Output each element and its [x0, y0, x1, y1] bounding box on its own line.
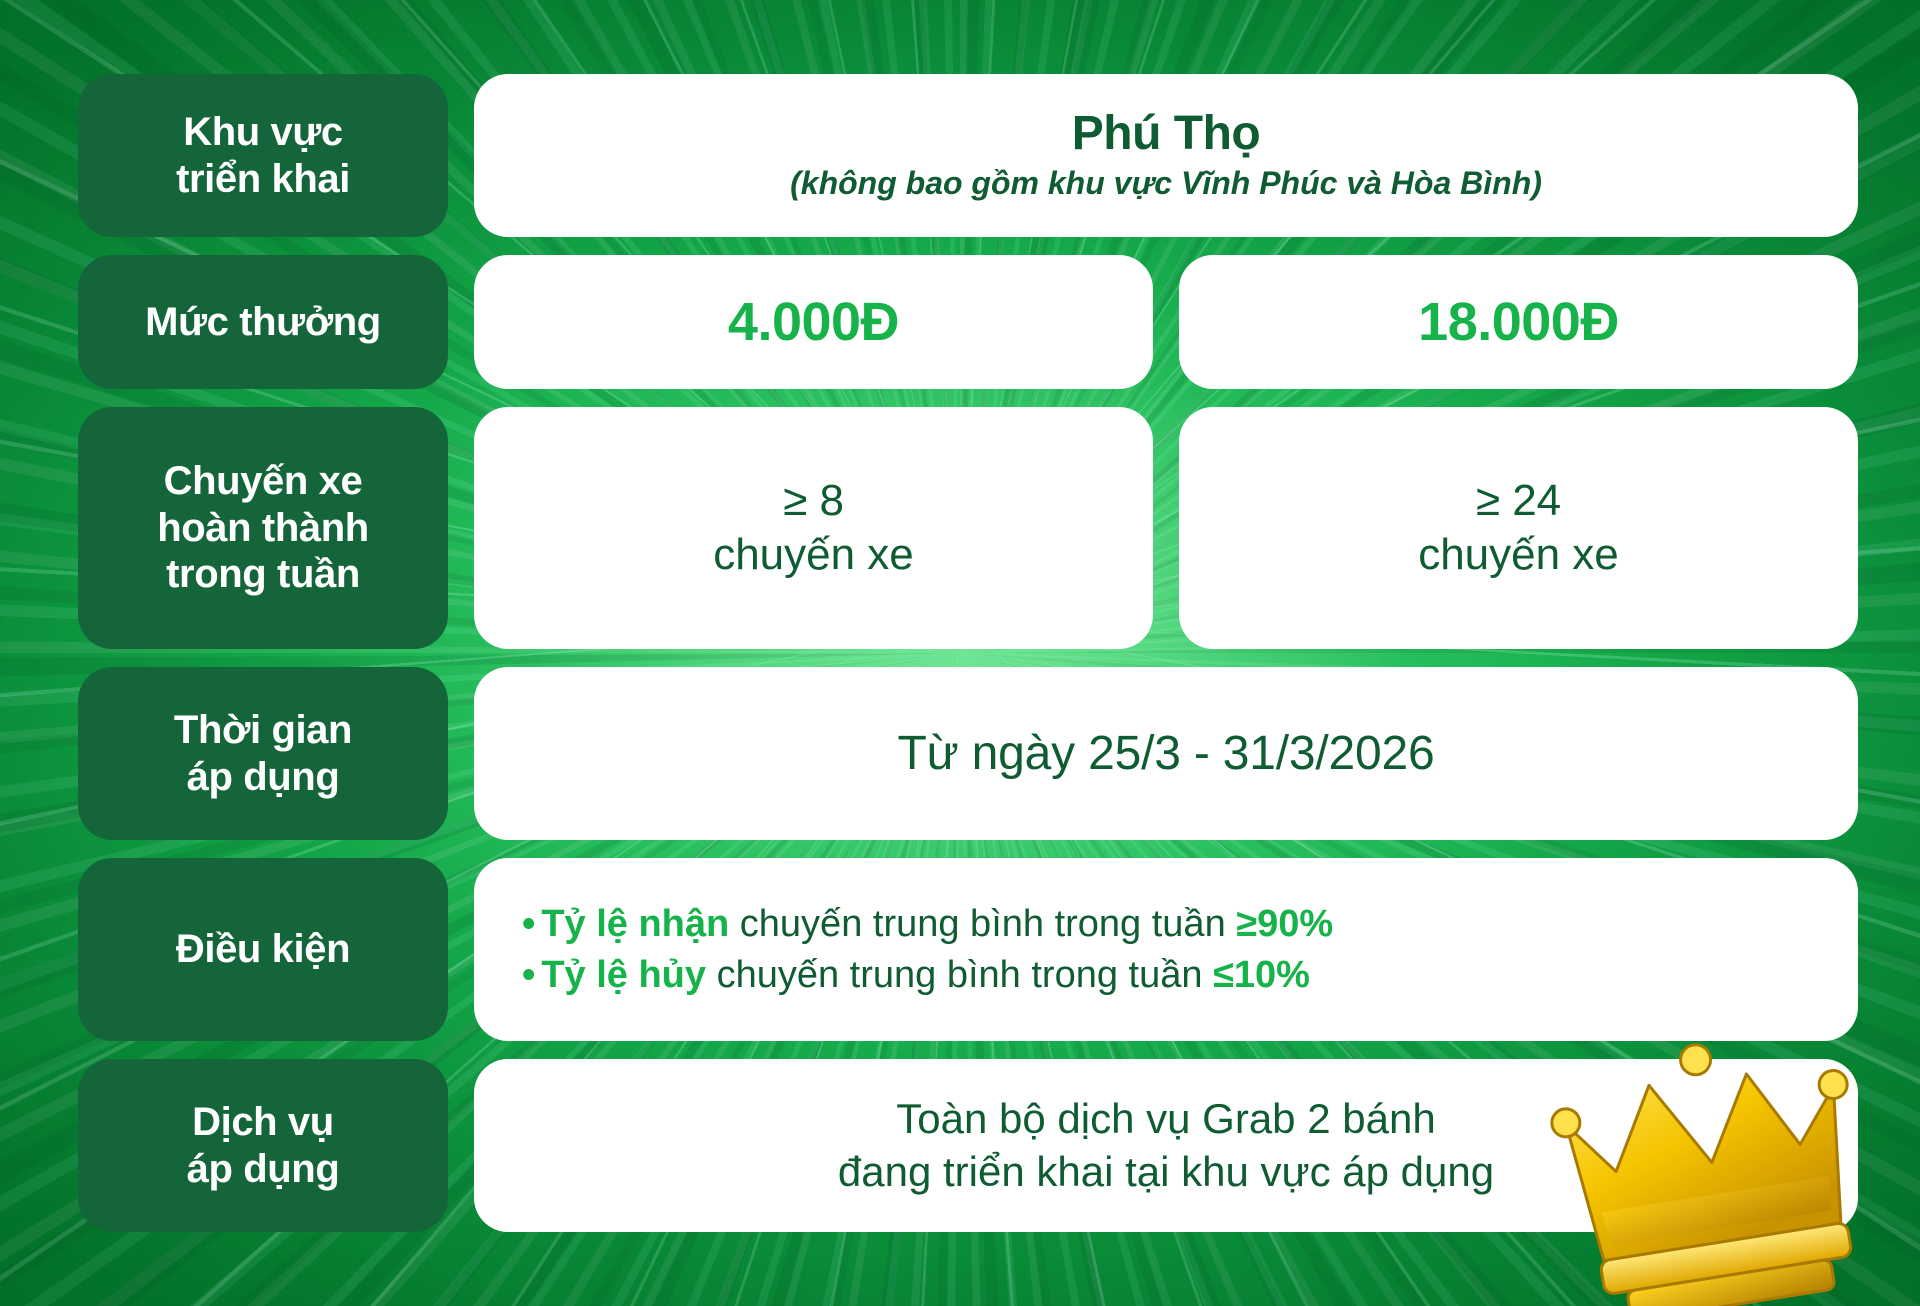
trips-unit-tier2: chuyến xe [1418, 528, 1619, 582]
condition-cancel-value: ≤10% [1213, 954, 1310, 996]
condition-cancel-text: chuyến trung bình trong tuần [706, 954, 1213, 996]
reward-card-tier1: 4.000Đ [474, 255, 1153, 389]
condition-cancel-highlight: Tỷ lệ hủy [541, 954, 706, 996]
row-label-area: Khu vực triển khai [78, 74, 448, 237]
reward-card-tier2: 18.000Đ [1179, 255, 1858, 389]
table-row-time: Thời gian áp dụng Từ ngày 25/3 - 31/3/20… [78, 667, 1858, 840]
row-cards-area: Phú Thọ (không bao gồm khu vực Vĩnh Phúc… [474, 74, 1858, 237]
condition-item-accept: •Tỷ lệ nhận chuyến trung bình trong tuần… [522, 899, 1836, 950]
condition-item-cancel: •Tỷ lệ hủy chuyến trung bình trong tuần … [522, 950, 1836, 1001]
table-row-area: Khu vực triển khai Phú Thọ (không bao gồ… [78, 74, 1858, 237]
condition-accept-value: ≥90% [1236, 903, 1333, 945]
condition-accept-highlight: Tỷ lệ nhận [541, 903, 729, 945]
row-cards-service: Toàn bộ dịch vụ Grab 2 bánh đang triển k… [474, 1059, 1858, 1232]
promo-table: Khu vực triển khai Phú Thọ (không bao gồ… [78, 74, 1858, 1232]
row-label-time: Thời gian áp dụng [78, 667, 448, 840]
conditions-card: •Tỷ lệ nhận chuyến trung bình trong tuần… [474, 858, 1858, 1041]
row-cards-reward: 4.000Đ 18.000Đ [474, 255, 1858, 389]
row-label-service: Dịch vụ áp dụng [78, 1059, 448, 1232]
condition-accept-text: chuyến trung bình trong tuần [729, 903, 1236, 945]
table-row-reward: Mức thưởng 4.000Đ 18.000Đ [78, 255, 1858, 389]
table-row-trips: Chuyến xe hoàn thành trong tuần ≥ 8 chuy… [78, 407, 1858, 649]
time-card: Từ ngày 25/3 - 31/3/2026 [474, 667, 1858, 840]
trips-card-tier1: ≥ 8 chuyến xe [474, 407, 1153, 649]
trips-unit-tier1: chuyến xe [713, 528, 914, 582]
bullet-icon: • [522, 903, 535, 945]
area-subtitle: (không bao gồm khu vực Vĩnh Phúc và Hòa … [790, 164, 1542, 202]
service-card: Toàn bộ dịch vụ Grab 2 bánh đang triển k… [474, 1059, 1858, 1232]
service-line-2: đang triển khai tại khu vực áp dụng [838, 1146, 1494, 1199]
area-title: Phú Thọ [1072, 108, 1260, 160]
trips-card-tier2: ≥ 24 chuyến xe [1179, 407, 1858, 649]
row-label-trips: Chuyến xe hoàn thành trong tuần [78, 407, 448, 649]
row-label-reward: Mức thưởng [78, 255, 448, 389]
time-value: Từ ngày 25/3 - 31/3/2026 [897, 726, 1434, 781]
area-card: Phú Thọ (không bao gồm khu vực Vĩnh Phúc… [474, 74, 1858, 237]
bullet-icon: • [522, 954, 535, 996]
table-row-conditions: Điều kiện •Tỷ lệ nhận chuyến trung bình … [78, 858, 1858, 1041]
row-cards-conditions: •Tỷ lệ nhận chuyến trung bình trong tuần… [474, 858, 1858, 1041]
service-line-1: Toàn bộ dịch vụ Grab 2 bánh [896, 1093, 1435, 1146]
trips-count-tier1: ≥ 8 [783, 474, 844, 528]
row-cards-trips: ≥ 8 chuyến xe ≥ 24 chuyến xe [474, 407, 1858, 649]
row-label-conditions: Điều kiện [78, 858, 448, 1041]
row-cards-time: Từ ngày 25/3 - 31/3/2026 [474, 667, 1858, 840]
reward-amount-tier2: 18.000Đ [1418, 295, 1619, 349]
reward-amount-tier1: 4.000Đ [728, 295, 899, 349]
promo-poster: Khu vực triển khai Phú Thọ (không bao gồ… [0, 0, 1920, 1306]
table-row-service: Dịch vụ áp dụng Toàn bộ dịch vụ Grab 2 b… [78, 1059, 1858, 1232]
trips-count-tier2: ≥ 24 [1476, 474, 1561, 528]
conditions-list: •Tỷ lệ nhận chuyến trung bình trong tuần… [496, 899, 1836, 1001]
